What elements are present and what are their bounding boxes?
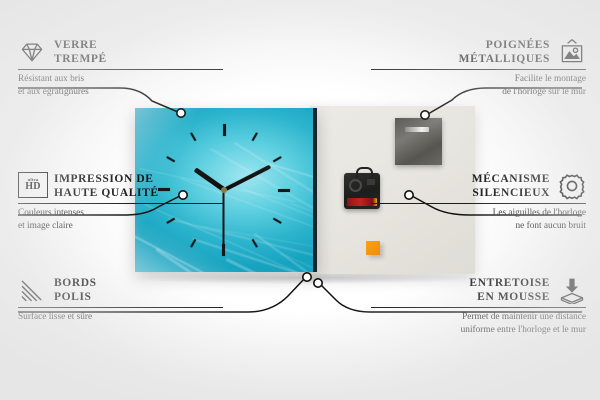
- feature-desc: Les aiguilles de l'horloge ne font aucun…: [371, 207, 586, 232]
- feature-rule: [371, 69, 586, 70]
- feature-head: POIGNÉES MÉTALLIQUES: [371, 38, 586, 66]
- feature-head: ENTRETOISE EN MOUSSE: [371, 276, 586, 304]
- picture-hanger-icon: [558, 38, 586, 66]
- feature-head: MÉCANISME SILENCIEUX: [371, 172, 586, 200]
- feature-entretoise-en-mousse: ENTRETOISE EN MOUSSE Permet de maintenir…: [371, 276, 586, 336]
- feature-impression-hd: ultra HD IMPRESSION DE HAUTE QUALITÉ Cou…: [18, 172, 233, 232]
- feature-title: BORDS POLIS: [54, 276, 97, 304]
- infographic-canvas: VERRE TREMPÉ Résistant aux bris et aux é…: [0, 0, 600, 400]
- diamond-icon: [18, 38, 46, 66]
- polished-edge-icon: [18, 276, 46, 304]
- feature-desc: Facilite le montage de l'horloge sur le …: [371, 73, 586, 98]
- feature-rule: [18, 69, 223, 70]
- ultra-hd-icon: ultra HD: [18, 172, 46, 200]
- clock-tick: [224, 189, 290, 191]
- feature-poignees-metalliques: POIGNÉES MÉTALLIQUES Facilite le montage…: [371, 38, 586, 98]
- feature-head: VERRE TREMPÉ: [18, 38, 233, 66]
- feature-desc: Surface lisse et sûre: [18, 311, 233, 324]
- feature-verre-trempe: VERRE TREMPÉ Résistant aux bris et aux é…: [18, 38, 233, 98]
- feature-mecanisme-silencieux: MÉCANISME SILENCIEUX Les aiguilles de l'…: [371, 172, 586, 232]
- feature-rule: [18, 307, 223, 308]
- feature-title: MÉCANISME SILENCIEUX: [472, 172, 550, 200]
- feature-desc: Résistant aux bris et aux égratignures: [18, 73, 233, 98]
- feature-desc: Couleurs intenses et image claire: [18, 207, 233, 232]
- press-down-icon: [558, 276, 586, 304]
- gear-icon: [558, 172, 586, 200]
- feature-title: ENTRETOISE EN MOUSSE: [469, 276, 550, 304]
- feature-bords-polis: BORDS POLIS Surface lisse et sûre: [18, 276, 233, 324]
- feature-rule: [371, 203, 586, 204]
- feature-head: BORDS POLIS: [18, 276, 233, 304]
- mechanism-dial: [349, 179, 362, 192]
- foam-spacer-pad: [366, 241, 380, 255]
- feature-head: ultra HD IMPRESSION DE HAUTE QUALITÉ: [18, 172, 233, 200]
- feature-title: IMPRESSION DE HAUTE QUALITÉ: [54, 172, 159, 200]
- feature-desc: Permet de maintenir une distance uniform…: [371, 311, 586, 336]
- feature-rule: [18, 203, 223, 204]
- feature-title: VERRE TREMPÉ: [54, 38, 107, 66]
- feature-title: POIGNÉES MÉTALLIQUES: [459, 38, 550, 66]
- feature-rule: [371, 307, 586, 308]
- metal-hanger-bracket: [395, 118, 442, 165]
